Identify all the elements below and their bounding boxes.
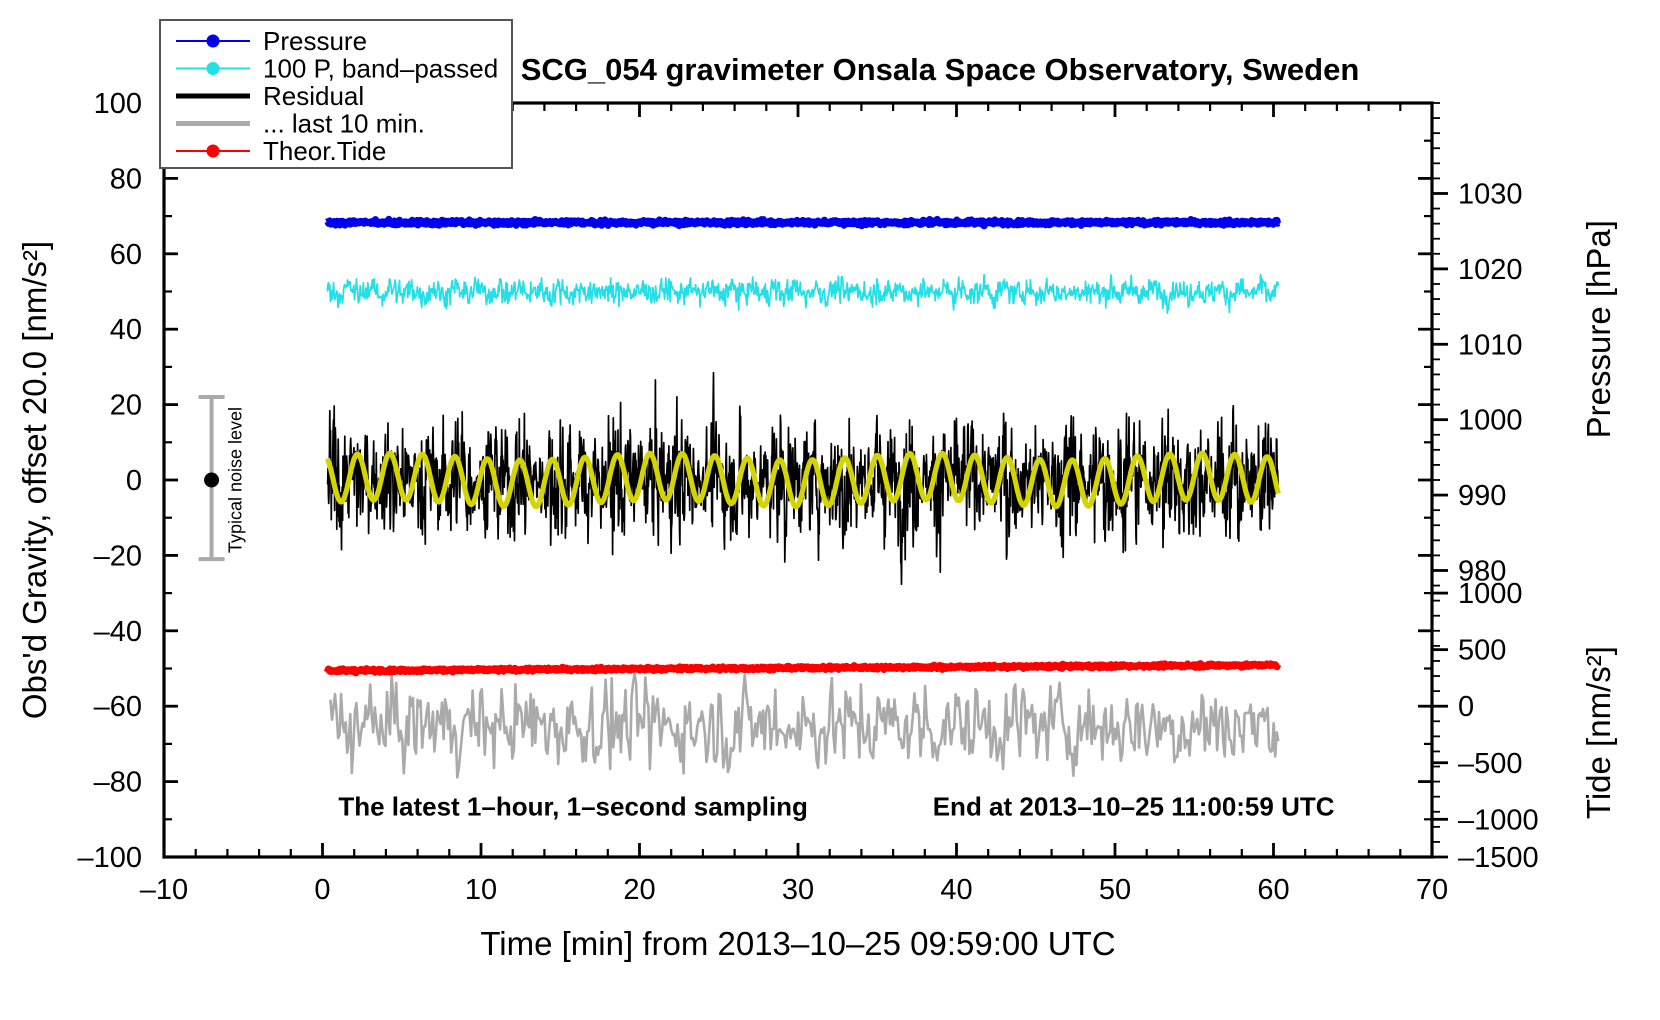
tide-axis-title: Tide [nm/s²] bbox=[1580, 646, 1617, 819]
y-tick-label: –100 bbox=[77, 842, 142, 874]
tide-tick-label: –1000 bbox=[1458, 804, 1539, 836]
tide-tick-label: –500 bbox=[1458, 748, 1523, 780]
x-tick-label: 70 bbox=[1416, 874, 1448, 906]
x-tick-label: 20 bbox=[623, 874, 655, 906]
tide-tick-label: –1500 bbox=[1458, 842, 1539, 874]
noise-level-label: Typical noise level bbox=[226, 407, 246, 553]
y-tick-label: 0 bbox=[126, 465, 142, 497]
y-tick-label: 100 bbox=[94, 88, 142, 120]
x-tick-label: 0 bbox=[314, 874, 330, 906]
y-tick-label: –20 bbox=[94, 540, 142, 572]
x-tick-label: –10 bbox=[140, 874, 188, 906]
y-tick-label: 20 bbox=[110, 390, 142, 422]
y-tick-label: 40 bbox=[110, 314, 142, 346]
legend-label: Residual bbox=[263, 81, 364, 111]
gravimeter-plot-page: –10010203040506070Time [min] from 2013–1… bbox=[0, 0, 1660, 1020]
y-tick-label: 60 bbox=[110, 239, 142, 271]
tide-tick-label: 1000 bbox=[1458, 578, 1523, 610]
legend-marker-dot bbox=[207, 62, 220, 75]
x-axis-title: Time [min] from 2013–10–25 09:59:00 UTC bbox=[480, 925, 1115, 962]
chart-title: SCG_054 gravimeter Onsala Space Observat… bbox=[521, 52, 1360, 87]
legend-label: Theor.Tide bbox=[263, 136, 386, 166]
legend-label: ... last 10 min. bbox=[263, 109, 425, 139]
pressure-tick-label: 1000 bbox=[1458, 405, 1523, 437]
noise-level-center-dot bbox=[204, 473, 219, 488]
y-tick-label: 80 bbox=[110, 163, 142, 195]
pressure-tick-label: 990 bbox=[1458, 480, 1506, 512]
x-tick-label: 60 bbox=[1257, 874, 1289, 906]
series-pressure bbox=[327, 219, 1278, 226]
pressure-axis-title: Pressure [hPa] bbox=[1580, 220, 1617, 438]
x-tick-label: 50 bbox=[1099, 874, 1131, 906]
end-time-note: End at 2013–10–25 11:00:59 UTC bbox=[933, 792, 1335, 822]
sampling-note: The latest 1–hour, 1–second sampling bbox=[338, 792, 808, 822]
legend-label: Pressure bbox=[263, 26, 367, 56]
pressure-tick-label: 1010 bbox=[1458, 329, 1523, 361]
y-tick-label: –40 bbox=[94, 616, 142, 648]
tide-tick-label: 0 bbox=[1458, 691, 1474, 723]
x-tick-label: 30 bbox=[782, 874, 814, 906]
legend-marker-dot bbox=[207, 145, 220, 158]
pressure-tick-label: 1030 bbox=[1458, 178, 1523, 210]
x-tick-label: 10 bbox=[465, 874, 497, 906]
x-tick-label: 40 bbox=[940, 874, 972, 906]
legend-label: 100 P, band–passed bbox=[263, 54, 498, 84]
legend-marker-dot bbox=[207, 35, 220, 48]
tide-tick-label: 500 bbox=[1458, 635, 1506, 667]
y-tick-label: –60 bbox=[94, 691, 142, 723]
y-tick-label: –80 bbox=[94, 767, 142, 799]
y-axis-title: Obs'd Gravity, offset 20.0 [nm/s²] bbox=[16, 241, 53, 719]
gravimeter-timeseries-chart: –10010203040506070Time [min] from 2013–1… bbox=[0, 0, 1660, 1020]
pressure-tick-label: 1020 bbox=[1458, 254, 1523, 286]
